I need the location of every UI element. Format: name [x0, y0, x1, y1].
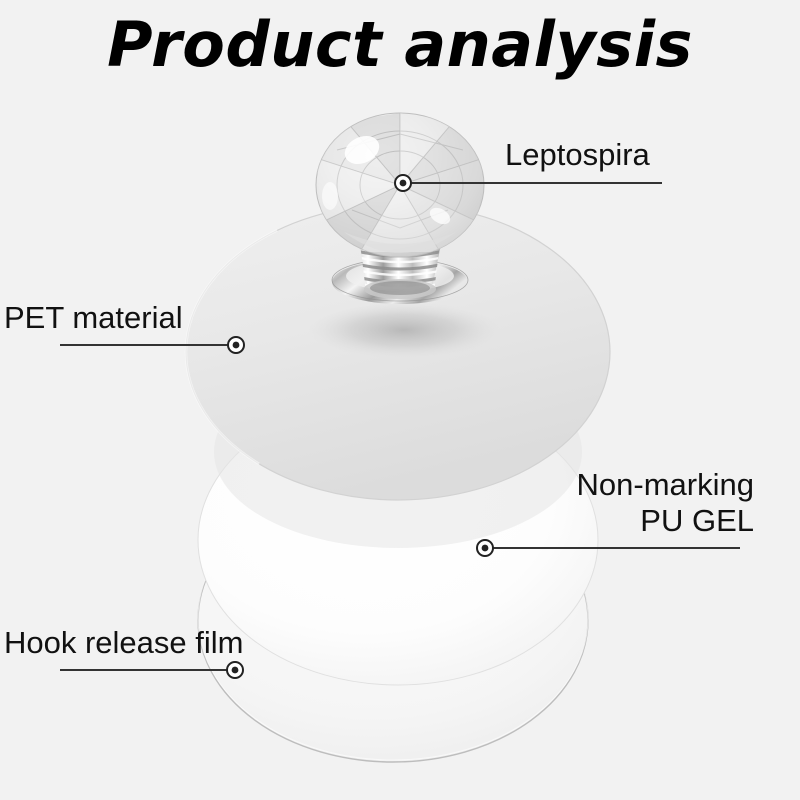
callout-label-hook-release-film: Hook release film — [4, 625, 243, 661]
product-analysis-infographic: Product analysis — [0, 0, 800, 800]
callout-label-non-marking-pu-gel: Non-marking PU GEL — [577, 467, 754, 539]
product-illustration — [0, 0, 800, 800]
callout-label-pet-material: PET material — [4, 300, 183, 336]
callout-label-leptospira: Leptospira — [505, 137, 650, 173]
